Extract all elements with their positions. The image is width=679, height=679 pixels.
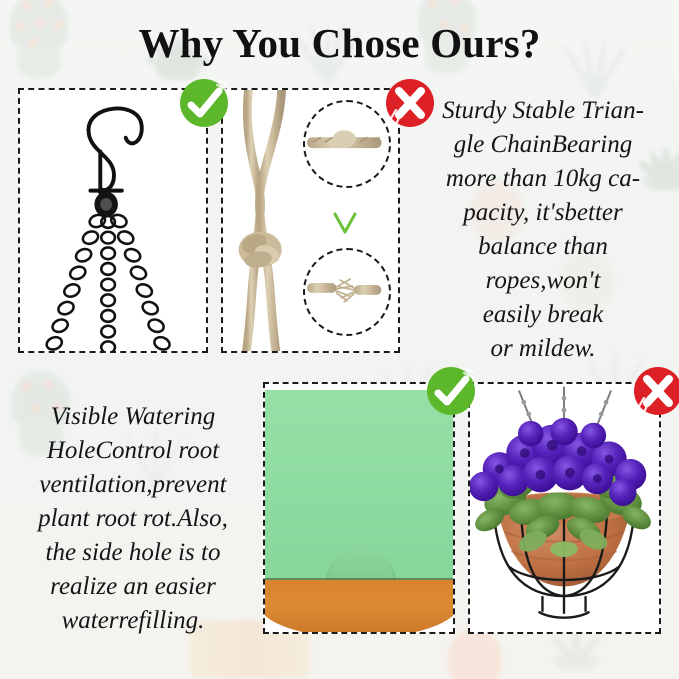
copy-line: the side hole is to [14,536,252,570]
copy-line: Sturdy Stable Trian- [414,94,672,128]
copy-watering-hole-description: Visible Watering HoleControl root ventil… [14,400,252,638]
copy-line: gle ChainBearing [414,128,672,162]
copy-line: pacity, it'sbetter [414,196,672,230]
check-badge [424,364,478,418]
copy-line: or mildew. [414,332,672,366]
copy-line: easily break [414,298,672,332]
copy-line: waterrefilling. [14,604,252,638]
cross-circle-icon [631,364,679,418]
copy-line: plant root rot.Also, [14,502,252,536]
infographic-canvas: Why You Chose Ours? [0,0,679,679]
page-title: Why You Chose Ours? [0,17,679,69]
copy-line: balance than [414,230,672,264]
panel-hanging-basket [468,382,661,634]
rope-detail-circle-frayed [303,248,391,336]
panel-watering-hole-pot [263,382,455,634]
pot-orange-reservoir [263,580,455,634]
rope-detail-circle-intact [303,100,391,188]
panel-rope [221,88,400,353]
chevron-down-icon [330,208,360,238]
copy-line: more than 10kg ca- [414,162,672,196]
cross-badge [631,364,679,418]
copy-line: Visible Watering [14,400,252,434]
copy-line: ropes,won't [414,264,672,298]
copy-chain-description: Sturdy Stable Trian- gle ChainBearing mo… [414,94,672,366]
cross-circle-icon [383,76,437,130]
copy-line: realize an easier [14,570,252,604]
planter-pot-image [265,384,453,632]
check-circle-icon [424,364,478,418]
cross-badge [383,76,437,130]
copy-line: ventilation,prevent [14,468,252,502]
hanging-basket-image [470,384,659,632]
copy-line: HoleControl root [14,434,252,468]
check-badge [177,76,231,130]
check-circle-icon [177,76,231,130]
